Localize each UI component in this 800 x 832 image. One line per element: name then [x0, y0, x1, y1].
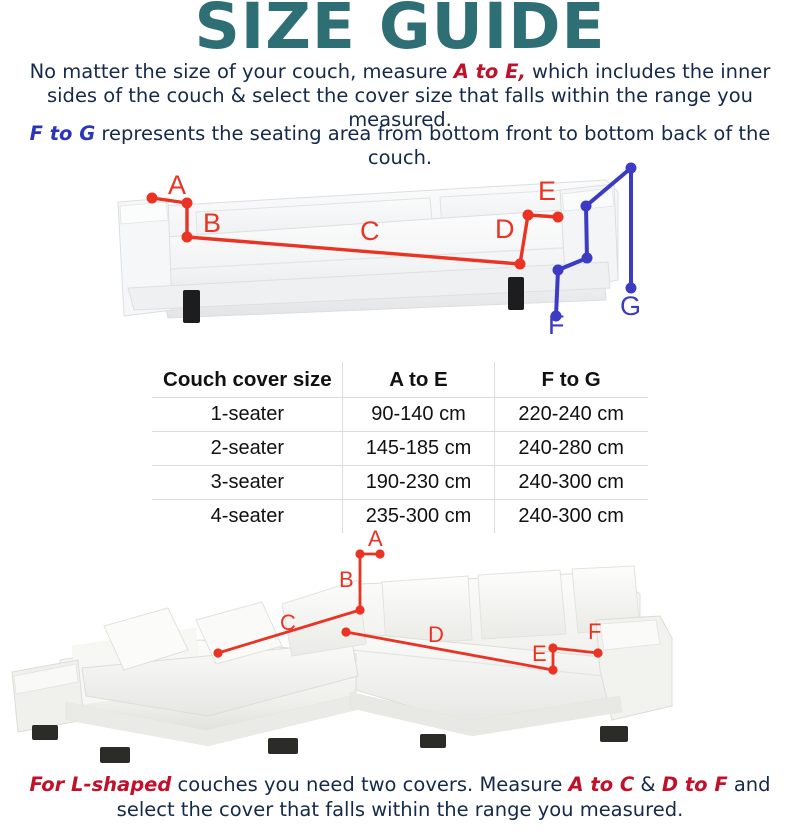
lcouch-leg-3 [268, 738, 298, 754]
footer-text-1: couches you need two covers. Measure [171, 773, 568, 796]
footer-note: For L-shaped couches you need two covers… [20, 772, 780, 822]
label-point-f: F [588, 619, 601, 644]
cell-f-to-g: 240-300 cm [495, 466, 648, 500]
intro-highlight-f-to-g: F to G [30, 122, 96, 145]
cell-f-to-g: 220-240 cm [495, 398, 648, 432]
lcouch-leg-1 [32, 725, 58, 740]
straight-couch-diagram: A B C D E F G [0, 150, 800, 350]
page-title: SIZE GUIDE [0, 0, 800, 60]
label-point-b: B [339, 567, 354, 592]
cell-size: 3-seater [153, 466, 343, 500]
label-point-g: G [620, 291, 641, 321]
lcouch-leg-2 [100, 747, 130, 763]
table-header-f-to-g: F to G [495, 363, 648, 398]
cell-size: 1-seater [153, 398, 343, 432]
lcouch-leg-4 [420, 734, 446, 748]
intro-highlight-a-to-e: A to E, [454, 60, 526, 83]
cell-size: 2-seater [153, 432, 343, 466]
table-row: 3-seater 190-230 cm 240-300 cm [153, 466, 648, 500]
cell-f-to-g: 240-280 cm [495, 432, 648, 466]
label-point-a: A [168, 170, 186, 200]
l-shaped-couch-illustration [12, 566, 672, 763]
l-shaped-couch-diagram: A B C D E F [0, 520, 800, 770]
cell-a-to-e: 90-140 cm [342, 398, 495, 432]
label-point-d: D [428, 622, 444, 647]
table-header-size: Couch cover size [153, 363, 343, 398]
label-point-c: C [360, 216, 380, 246]
couch-size-table: Couch cover size A to E F to G 1-seater … [152, 362, 648, 534]
footer-highlight-a-to-c: A to C [569, 773, 635, 796]
couch-leg-right [508, 277, 524, 310]
label-point-d: D [495, 214, 515, 244]
intro-text-1a: No matter the size of your couch, measur… [30, 60, 454, 83]
table-header-a-to-e: A to E [342, 363, 495, 398]
lcouch-leg-5 [600, 726, 628, 742]
table-header-row: Couch cover size A to E F to G [153, 363, 648, 398]
label-point-e: E [538, 176, 556, 206]
label-point-a: A [368, 526, 383, 551]
label-point-f: F [548, 310, 565, 340]
table-row: 1-seater 90-140 cm 220-240 cm [153, 398, 648, 432]
footer-highlight-d-to-f: D to F [662, 773, 728, 796]
footer-highlight-l-shaped: For L-shaped [29, 773, 171, 796]
cell-a-to-e: 145-185 cm [342, 432, 495, 466]
label-point-b: B [203, 208, 221, 238]
label-point-c: C [280, 610, 296, 635]
footer-text-2: & [634, 773, 662, 796]
couch-leg-left [183, 290, 200, 323]
label-point-e: E [532, 641, 547, 666]
cell-a-to-e: 190-230 cm [342, 466, 495, 500]
table-row: 2-seater 145-185 cm 240-280 cm [153, 432, 648, 466]
